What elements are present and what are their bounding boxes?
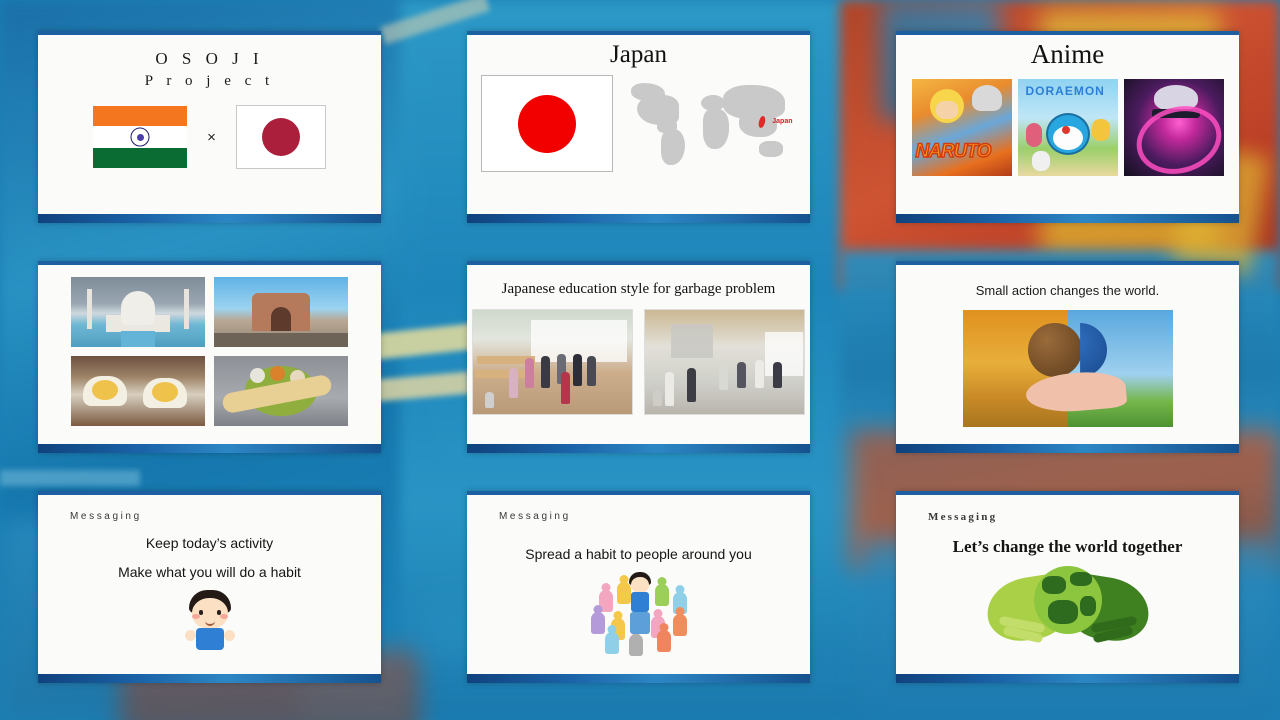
slide-body: Messaging Let’s change the world togethe… xyxy=(896,495,1239,674)
anime-poster-row: NARUTO DORAEMON xyxy=(896,79,1239,176)
slide-title[interactable]: O S O J I P r o j e c t × xyxy=(38,31,381,223)
photo-grid xyxy=(38,265,381,426)
title-line-2: P r o j e c t xyxy=(38,71,381,91)
photo-classroom-cleaning xyxy=(472,309,633,415)
slide-body xyxy=(38,265,381,444)
slide-messaging-1[interactable]: Messaging Keep today’s activity Make wha… xyxy=(38,491,381,683)
page-title: Small action changes the world. xyxy=(896,265,1239,298)
page-title: Japanese education style for garbage pro… xyxy=(467,265,810,298)
japan-flag-icon xyxy=(481,75,613,172)
green-band xyxy=(93,148,187,168)
photo-gateway-of-india xyxy=(214,277,348,347)
poster-wordmark: DORAEMON xyxy=(1026,84,1105,98)
slide-body: Japanese education style for garbage pro… xyxy=(467,265,810,444)
messaging-line-2: Make what you will do a habit xyxy=(38,564,381,580)
multiply-symbol: × xyxy=(207,129,216,146)
poster-wordmark: NARUTO xyxy=(916,141,991,163)
jjk-energy-ring xyxy=(1128,96,1223,176)
slide-bottom-bar xyxy=(38,674,381,683)
photo-hallway-cleaning xyxy=(644,309,805,415)
messaging-line-1: Keep today’s activity xyxy=(38,535,381,551)
messaging-label: Messaging xyxy=(38,495,381,522)
messaging-line-1: Spread a habit to people around you xyxy=(467,546,810,562)
boy-and-crowd-icon xyxy=(585,568,693,646)
determined-boy-icon xyxy=(181,590,239,650)
flags-row: × xyxy=(38,105,381,169)
page-title: Japan xyxy=(467,35,810,69)
photo-vada-pav xyxy=(71,356,205,426)
hinomaru-disc xyxy=(518,95,576,153)
slide-japan[interactable]: Japan Japan xyxy=(467,31,810,223)
messaging-label: Messaging xyxy=(896,495,1239,523)
doraemon-nose-icon xyxy=(1062,126,1070,134)
poster-doraemon: DORAEMON xyxy=(1018,79,1118,176)
slide-bottom-bar xyxy=(896,444,1239,453)
slide-bottom-bar xyxy=(467,444,810,453)
photo-earth-in-hand xyxy=(963,310,1173,427)
japan-flag-icon xyxy=(236,105,326,169)
slide-messaging-3[interactable]: Messaging Let’s change the world togethe… xyxy=(896,491,1239,683)
slide-messaging-2[interactable]: Messaging Spread a habit to people aroun… xyxy=(467,491,810,683)
slide-small-action[interactable]: Small action changes the world. xyxy=(896,261,1239,453)
dry-globe xyxy=(1028,323,1082,377)
world-map-icon: Japan xyxy=(627,75,797,175)
photo-dosa-thali xyxy=(214,356,348,426)
green-globe xyxy=(1034,566,1102,634)
doraemon-face-icon xyxy=(1046,113,1090,155)
ashoka-chakra-icon xyxy=(131,128,150,147)
hinomaru-disc xyxy=(262,118,300,156)
messaging-line-1: Let’s change the world together xyxy=(896,537,1239,557)
slide-anime[interactable]: Anime NARUTO DORAEMON xyxy=(896,31,1239,223)
education-photo-row xyxy=(467,309,810,415)
slide-bottom-bar xyxy=(467,674,810,683)
hands-holding-earth-icon xyxy=(979,564,1157,652)
slide-body: Messaging Spread a habit to people aroun… xyxy=(467,495,810,674)
photo-taj-mahal xyxy=(71,277,205,347)
slide-bottom-bar xyxy=(38,444,381,453)
slide-bottom-bar xyxy=(467,214,810,223)
japan-content-row: Japan xyxy=(467,75,810,175)
slide-body: Japan Japan xyxy=(467,35,810,214)
poster-jujutsu-kaisen xyxy=(1124,79,1224,176)
slide-bottom-bar xyxy=(896,214,1239,223)
messaging-label: Messaging xyxy=(467,495,810,522)
slide-body: Small action changes the world. xyxy=(896,265,1239,444)
saffron-band xyxy=(93,106,187,126)
slide-bottom-bar xyxy=(38,214,381,223)
poster-naruto: NARUTO xyxy=(912,79,1012,176)
slide-body: O S O J I P r o j e c t × xyxy=(38,35,381,214)
japan-map-label: Japan xyxy=(772,118,792,125)
page-title: O S O J I P r o j e c t xyxy=(38,35,381,91)
slide-body: Messaging Keep today’s activity Make wha… xyxy=(38,495,381,674)
slide-education[interactable]: Japanese education style for garbage pro… xyxy=(467,261,810,453)
india-flag-icon xyxy=(93,106,187,168)
slide-bottom-bar xyxy=(896,674,1239,683)
slide-grid: O S O J I P r o j e c t × Japan xyxy=(38,31,1242,691)
slide-india-photos[interactable] xyxy=(38,261,381,453)
title-line-1: O S O J I xyxy=(155,49,263,68)
page-title: Anime xyxy=(896,35,1239,70)
slide-body: Anime NARUTO DORAEMON xyxy=(896,35,1239,214)
